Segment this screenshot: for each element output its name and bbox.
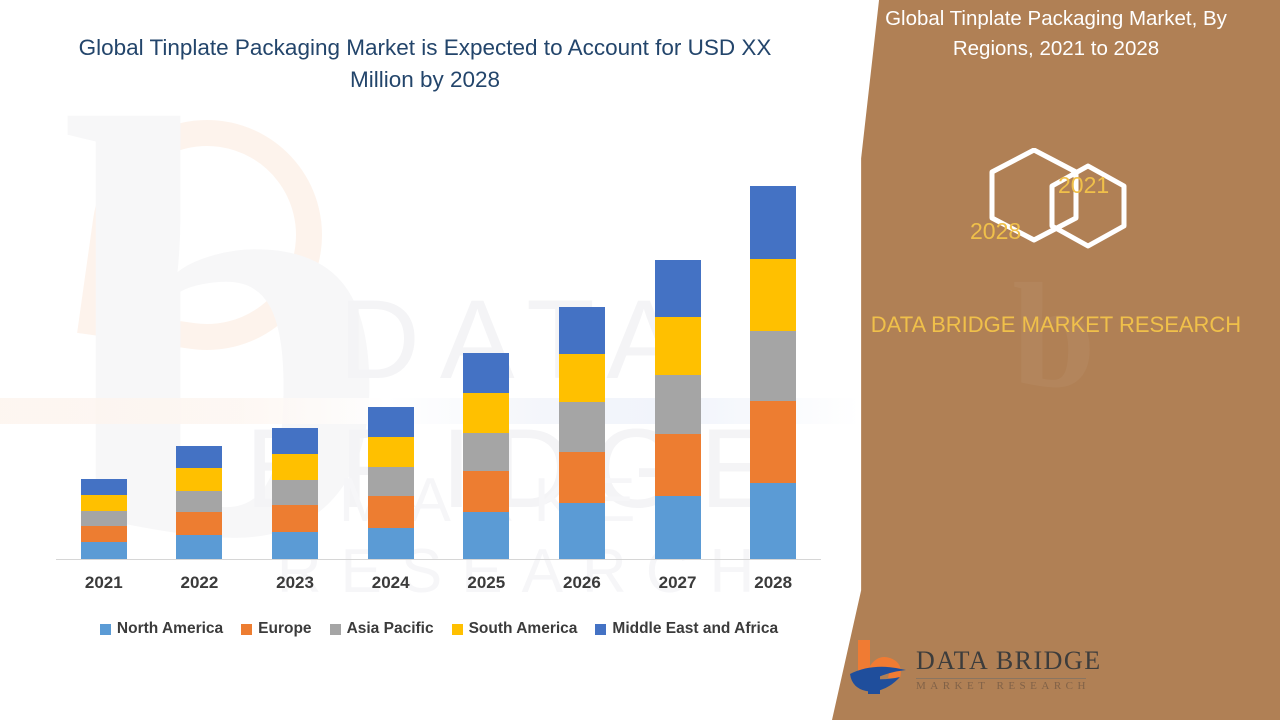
bar-segment (368, 496, 414, 528)
legend-swatch-icon (330, 624, 341, 635)
bar-segment (81, 511, 127, 526)
chart-title: Global Tinplate Packaging Market is Expe… (60, 32, 790, 96)
bar-segment (272, 505, 318, 532)
x-axis-tick-labels: 20212022202320242025202620272028 (56, 573, 821, 599)
bar-segment (559, 503, 605, 559)
x-axis-label-2024: 2024 (343, 573, 439, 593)
bar-segment (463, 433, 509, 471)
bar-segment (368, 437, 414, 467)
bar-segment (176, 468, 222, 491)
brand-name: DATA BRIDGE MARKET RESEARCH (856, 310, 1256, 340)
bar-segment (368, 467, 414, 496)
legend-label: North America (117, 620, 223, 638)
bar-segment (559, 402, 605, 452)
bar-segment (176, 491, 222, 512)
legend-label: Asia Pacific (347, 620, 434, 638)
x-axis-label-2023: 2023 (247, 573, 343, 593)
hexagon-outline-icon (942, 148, 1152, 278)
logo-divider (916, 678, 1086, 679)
brand-side-panel: b Global Tinplate Packaging Market, By R… (832, 0, 1280, 720)
bar-segment (655, 434, 701, 496)
bar-segment (463, 471, 509, 512)
stacked-bar-2024[interactable] (368, 407, 414, 559)
hexagon-2021-label: 2021 (1058, 172, 1109, 199)
bar-segment (368, 407, 414, 437)
x-axis-label-2021: 2021 (56, 573, 152, 593)
legend-item[interactable]: Asia Pacific (330, 620, 434, 638)
bar-segment (655, 375, 701, 434)
bar-segment (559, 307, 605, 354)
legend-item[interactable]: Middle East and Africa (595, 620, 778, 638)
bar-segment (368, 528, 414, 559)
bar-segment (463, 512, 509, 559)
hexagon-2028-label: 2028 (970, 218, 1021, 245)
bar-segment (750, 259, 796, 331)
bar-segment (81, 526, 127, 542)
bar-segment (81, 542, 127, 559)
chart-plot-area (56, 170, 821, 560)
stacked-bar-2026[interactable] (559, 307, 605, 559)
bar-segment (750, 483, 796, 559)
legend-item[interactable]: North America (100, 620, 223, 638)
logo-subtitle: MARKET RESEARCH (916, 680, 1090, 692)
legend-swatch-icon (241, 624, 252, 635)
bar-segment (655, 496, 701, 559)
legend-swatch-icon (100, 624, 111, 635)
legend-label: South America (469, 620, 578, 638)
stacked-bar-2028[interactable] (750, 186, 796, 559)
bar-segment (750, 331, 796, 401)
x-axis-label-2027: 2027 (630, 573, 726, 593)
legend-item[interactable]: Europe (241, 620, 311, 638)
bar-segment (176, 535, 222, 559)
x-axis-label-2025: 2025 (438, 573, 534, 593)
legend-label: Europe (258, 620, 311, 638)
bar-segment (655, 317, 701, 375)
bar-segment (559, 354, 605, 402)
bar-segment (272, 480, 318, 505)
logo-mark-icon (844, 636, 914, 702)
stacked-bar-2023[interactable] (272, 428, 318, 559)
bar-segment (272, 454, 318, 480)
stacked-bar-2022[interactable] (176, 446, 222, 559)
bar-segment (81, 495, 127, 511)
stacked-bar-2025[interactable] (463, 353, 509, 559)
x-axis-label-2028: 2028 (725, 573, 821, 593)
chart-legend: North AmericaEuropeAsia PacificSouth Ame… (56, 617, 822, 641)
logo-wordmark: DATA BRIDGE (916, 646, 1102, 676)
bar-segment (272, 532, 318, 559)
bar-segment (463, 393, 509, 433)
bar-segment (655, 260, 701, 317)
panel-title: Global Tinplate Packaging Market, By Reg… (850, 4, 1262, 64)
hexagon-badge-group: 2021 2028 (942, 148, 1152, 278)
x-axis-line (56, 559, 821, 560)
bar-segment (272, 428, 318, 454)
x-axis-label-2022: 2022 (151, 573, 247, 593)
legend-swatch-icon (452, 624, 463, 635)
stacked-bar-2027[interactable] (655, 260, 701, 559)
stacked-bar-2021[interactable] (81, 479, 127, 559)
bar-segment (750, 401, 796, 483)
bar-segment (176, 446, 222, 468)
bar-segment (81, 479, 127, 495)
bar-segment (176, 512, 222, 535)
legend-label: Middle East and Africa (612, 620, 778, 638)
data-bridge-logo: DATA BRIDGE MARKET RESEARCH (844, 636, 1094, 712)
bar-segment (750, 186, 796, 259)
bar-segment (559, 452, 605, 503)
x-axis-label-2026: 2026 (534, 573, 630, 593)
legend-swatch-icon (595, 624, 606, 635)
legend-item[interactable]: South America (452, 620, 578, 638)
bar-segment (463, 353, 509, 393)
